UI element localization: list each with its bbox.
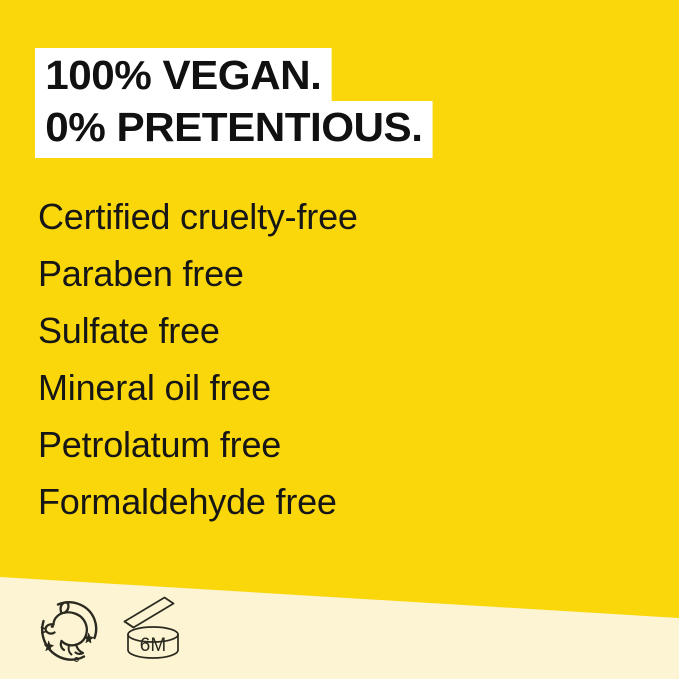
headline-line-2: 0% PRETENTIOUS. bbox=[35, 101, 433, 158]
certification-icons: 6M bbox=[36, 596, 182, 666]
claim-item: Petrolatum free bbox=[38, 416, 578, 473]
claim-item: Mineral oil free bbox=[38, 359, 578, 416]
claims-list: Certified cruelty-free Paraben free Sulf… bbox=[38, 188, 578, 530]
leaping-bunny-icon bbox=[36, 596, 102, 666]
pao-months-label: 6M bbox=[140, 635, 166, 656]
product-claims-infographic: 100% VEGAN. 0% PRETENTIOUS. Certified cr… bbox=[0, 0, 679, 679]
headline: 100% VEGAN. 0% PRETENTIOUS. bbox=[35, 48, 505, 158]
period-after-opening-jar-icon: 6M bbox=[120, 596, 182, 666]
claim-item: Certified cruelty-free bbox=[38, 188, 578, 245]
claim-item: Paraben free bbox=[38, 245, 578, 302]
claim-item: Formaldehyde free bbox=[38, 473, 578, 530]
claim-item: Sulfate free bbox=[38, 302, 578, 359]
headline-line-1: 100% VEGAN. bbox=[35, 48, 332, 101]
